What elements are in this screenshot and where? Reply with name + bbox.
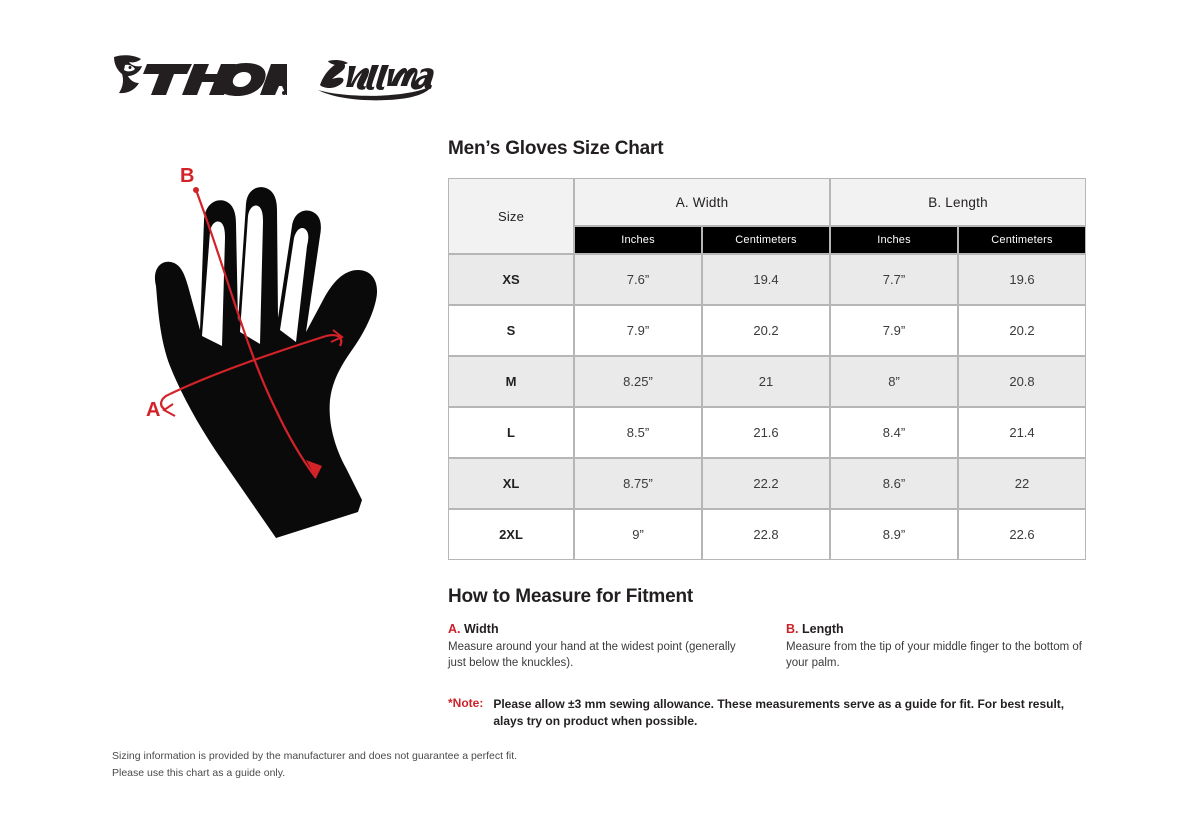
cell-length-inches: 8” bbox=[830, 356, 958, 407]
table-row: 2XL 9” 22.8 8.9” 22.6 bbox=[448, 509, 1086, 560]
footer-disclaimer: Sizing information is provided by the ma… bbox=[112, 748, 517, 783]
cell-width-inches: 8.25” bbox=[574, 356, 702, 407]
cell-length-centimeters: 21.4 bbox=[958, 407, 1086, 458]
note-block: *Note: Please allow ±3 mm sewing allowan… bbox=[448, 696, 1088, 731]
thor-logo-icon bbox=[112, 52, 287, 102]
cell-width-centimeters: 22.2 bbox=[702, 458, 830, 509]
cell-size: M bbox=[448, 356, 574, 407]
column-header-width-centimeters: Centimeters bbox=[702, 226, 830, 254]
chart-content: Men’s Gloves Size Chart Size A. Width B.… bbox=[448, 138, 1088, 730]
column-group-width: A. Width bbox=[574, 178, 830, 226]
measure-description-length: Measure from the tip of your middle fing… bbox=[786, 639, 1088, 672]
cell-size: XS bbox=[448, 254, 574, 305]
cell-width-centimeters: 21.6 bbox=[702, 407, 830, 458]
diagram-marker-b: B bbox=[180, 165, 194, 187]
measure-label-length: Length bbox=[802, 622, 844, 636]
cell-width-inches: 9” bbox=[574, 509, 702, 560]
footer-line-2: Please use this chart as a guide only. bbox=[112, 765, 517, 782]
column-group-length: B. Length bbox=[830, 178, 1086, 226]
cell-width-centimeters: 22.8 bbox=[702, 509, 830, 560]
table-row: XL 8.75” 22.2 8.6” 22 bbox=[448, 458, 1086, 509]
size-chart-page: A B Men’s Gloves Size Chart Size A. Widt… bbox=[0, 0, 1200, 820]
table-row: L 8.5” 21.6 8.4” 21.4 bbox=[448, 407, 1086, 458]
column-header-width-inches: Inches bbox=[574, 226, 702, 254]
diagram-marker-a: A bbox=[146, 399, 160, 421]
table-row: M 8.25” 21 8” 20.8 bbox=[448, 356, 1086, 407]
cell-width-inches: 7.6” bbox=[574, 254, 702, 305]
cell-size: S bbox=[448, 305, 574, 356]
measure-marker-b: B. bbox=[786, 622, 799, 636]
measure-label-width: Width bbox=[464, 622, 499, 636]
cell-width-centimeters: 20.2 bbox=[702, 305, 830, 356]
cell-length-inches: 7.7” bbox=[830, 254, 958, 305]
brand-logos bbox=[112, 52, 438, 102]
cell-length-centimeters: 20.2 bbox=[958, 305, 1086, 356]
page-title: Men’s Gloves Size Chart bbox=[448, 138, 1088, 160]
column-header-length-centimeters: Centimeters bbox=[958, 226, 1086, 254]
measure-marker-a: A. bbox=[448, 622, 461, 636]
cell-size: 2XL bbox=[448, 509, 574, 560]
footer-line-1: Sizing information is provided by the ma… bbox=[112, 748, 517, 765]
cell-length-inches: 8.6” bbox=[830, 458, 958, 509]
cell-width-inches: 8.75” bbox=[574, 458, 702, 509]
note-text: Please allow ±3 mm sewing allowance. The… bbox=[493, 696, 1083, 731]
cell-size: L bbox=[448, 407, 574, 458]
cell-width-centimeters: 21 bbox=[702, 356, 830, 407]
table-body: XS 7.6” 19.4 7.7” 19.6 S 7.9” 20.2 7.9” … bbox=[448, 254, 1086, 560]
table-row: XS 7.6” 19.4 7.7” 19.6 bbox=[448, 254, 1086, 305]
measure-item-heading: B. Length bbox=[786, 622, 1088, 636]
table-header: Size A. Width B. Length Inches Centimete… bbox=[448, 178, 1086, 254]
column-header-length-inches: Inches bbox=[830, 226, 958, 254]
how-to-measure-columns: A. Width Measure around your hand at the… bbox=[448, 622, 1088, 672]
measure-item-width: A. Width Measure around your hand at the… bbox=[448, 622, 750, 672]
cell-width-inches: 7.9” bbox=[574, 305, 702, 356]
cell-length-centimeters: 20.8 bbox=[958, 356, 1086, 407]
cell-width-inches: 8.5” bbox=[574, 407, 702, 458]
table-row: S 7.9” 20.2 7.9” 20.2 bbox=[448, 305, 1086, 356]
cell-width-centimeters: 19.4 bbox=[702, 254, 830, 305]
how-to-measure-title: How to Measure for Fitment bbox=[448, 586, 1088, 608]
size-chart-table: Size A. Width B. Length Inches Centimete… bbox=[448, 178, 1086, 560]
hand-measurement-diagram: A B bbox=[126, 160, 426, 545]
hallman-logo-icon bbox=[313, 52, 438, 102]
measure-description-width: Measure around your hand at the widest p… bbox=[448, 639, 750, 672]
cell-length-centimeters: 22 bbox=[958, 458, 1086, 509]
measure-item-heading: A. Width bbox=[448, 622, 750, 636]
cell-length-centimeters: 22.6 bbox=[958, 509, 1086, 560]
cell-length-centimeters: 19.6 bbox=[958, 254, 1086, 305]
column-header-size: Size bbox=[448, 178, 574, 254]
note-label: *Note: bbox=[448, 696, 483, 731]
measure-item-length: B. Length Measure from the tip of your m… bbox=[786, 622, 1088, 672]
cell-length-inches: 8.9” bbox=[830, 509, 958, 560]
cell-length-inches: 8.4” bbox=[830, 407, 958, 458]
cell-length-inches: 7.9” bbox=[830, 305, 958, 356]
cell-size: XL bbox=[448, 458, 574, 509]
